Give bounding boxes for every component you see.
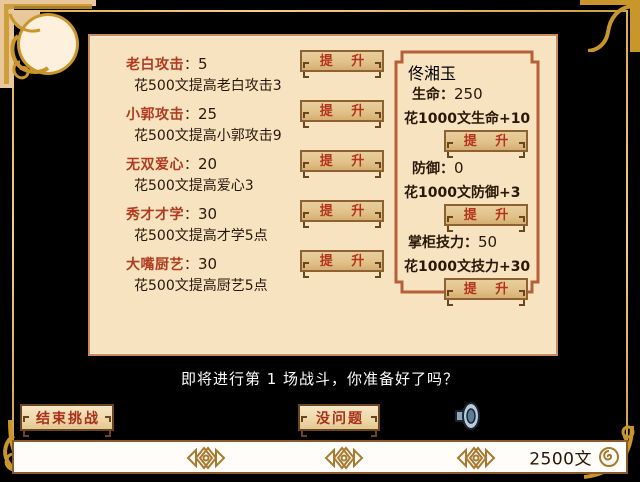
team-stat-list: 老白攻击：5 花500文提高老白攻击3 提 升 小郭攻击：25 花500文提高小…	[108, 50, 383, 300]
button-corner-icon	[105, 407, 111, 413]
confirm-battle-button[interactable]: 没问题	[298, 404, 380, 431]
button-corner-icon	[303, 263, 309, 269]
stat-row: 无双爱心：20 花500文提高爱心3 提 升	[108, 150, 383, 200]
character-stat-separator: ：	[440, 87, 454, 103]
button-corner-icon	[375, 153, 381, 159]
button-corner-icon	[301, 422, 307, 428]
button-corner-icon	[375, 163, 381, 169]
button-corner-icon	[519, 207, 525, 213]
button-corner-icon	[303, 63, 309, 69]
diamond-ornament-icon	[182, 445, 230, 471]
upgrade-button-label: 提 升	[457, 135, 516, 148]
stat-separator: ：	[184, 207, 198, 223]
stat-row: 小郭攻击：25 花500文提高小郭攻击9 提 升	[108, 100, 383, 150]
button-corner-icon	[301, 407, 307, 413]
button-corner-icon	[519, 281, 525, 287]
diamond-ornament-icon	[452, 445, 500, 471]
speaker-icon[interactable]	[452, 400, 486, 432]
stat-name: 无双爱心	[126, 157, 184, 173]
stat-name: 老白攻击	[126, 57, 184, 73]
upgrade-defense-button[interactable]: 提 升	[444, 204, 528, 226]
button-corner-icon	[447, 207, 453, 213]
end-challenge-button[interactable]: 结束挑战	[20, 404, 114, 431]
button-corner-icon	[375, 213, 381, 219]
character-stat-separator: ：	[464, 235, 478, 251]
upgrade-button-label: 提 升	[313, 205, 372, 218]
character-stat-label: 防御	[412, 161, 440, 177]
button-corner-icon	[303, 163, 309, 169]
button-corner-icon	[375, 253, 381, 259]
stat-separator: ：	[184, 257, 198, 273]
stat-row: 大嘴厨艺：30 花500文提高厨艺5点 提 升	[108, 250, 383, 300]
frame-top-rule	[12, 10, 628, 12]
stat-description: 花500文提高才学5点	[134, 225, 268, 245]
end-challenge-label: 结束挑战	[34, 408, 100, 428]
character-stat-value: 0	[454, 159, 464, 177]
button-corner-icon	[375, 263, 381, 269]
stat-line: 小郭攻击：25	[126, 104, 217, 124]
button-corner-icon	[375, 53, 381, 59]
corner-ornament-top-right-icon	[580, 0, 640, 52]
stat-value: 25	[198, 105, 217, 123]
character-stat-line: 生命：250	[412, 84, 483, 104]
button-corner-icon	[519, 217, 525, 223]
button-corner-icon	[375, 63, 381, 69]
character-stat-description: 花1000文技力+30	[404, 256, 530, 276]
button-corner-icon	[303, 203, 309, 209]
stat-value: 30	[198, 255, 217, 273]
character-stat-description: 花1000文生命+10	[404, 108, 530, 128]
character-stat-value: 50	[478, 233, 497, 251]
upgrade-wushuang-love-button[interactable]: 提 升	[300, 150, 384, 172]
button-corner-icon	[447, 281, 453, 287]
upgrade-dazui-cooking-button[interactable]: 提 升	[300, 250, 384, 272]
status-bar: 2500文	[12, 440, 628, 474]
volume-control[interactable]	[452, 398, 592, 434]
frame-right-rule	[626, 10, 628, 472]
stat-row: 老白攻击：5 花500文提高老白攻击3 提 升	[108, 50, 383, 100]
game-window: 老白攻击：5 花500文提高老白攻击3 提 升 小郭攻击：25 花500文提高小…	[0, 0, 640, 482]
button-corner-icon	[23, 422, 29, 428]
money-amount: 2500文	[529, 445, 592, 470]
button-corner-icon	[375, 103, 381, 109]
stat-name: 大嘴厨艺	[126, 257, 184, 273]
corner-ornament-top-left-icon	[0, 0, 96, 88]
stat-value: 20	[198, 155, 217, 173]
character-stat-description: 花1000文防御+3	[404, 182, 520, 202]
character-stat-value: 250	[454, 85, 483, 103]
button-corner-icon	[303, 213, 309, 219]
button-corner-icon	[303, 53, 309, 59]
upgrade-button-label: 提 升	[457, 209, 516, 222]
stat-name: 秀才才学	[126, 207, 184, 223]
button-corner-icon	[447, 291, 453, 297]
stat-value: 30	[198, 205, 217, 223]
upgrade-xiucai-talent-button[interactable]: 提 升	[300, 200, 384, 222]
character-stat-line: 掌柜技力：50	[408, 232, 497, 252]
button-corner-icon	[23, 407, 29, 413]
character-stat-separator: ：	[440, 161, 454, 177]
button-corner-icon	[375, 113, 381, 119]
button-corner-icon	[303, 103, 309, 109]
button-corner-icon	[105, 422, 111, 428]
upgrade-panel: 老白攻击：5 花500文提高老白攻击3 提 升 小郭攻击：25 花500文提高小…	[88, 34, 558, 356]
button-corner-icon	[375, 203, 381, 209]
button-corner-icon	[447, 143, 453, 149]
battle-prompt-text: 即将进行第 1 场战斗，你准备好了吗？	[0, 368, 640, 389]
character-stat-line: 防御：0	[412, 158, 464, 178]
diamond-ornament-icon	[320, 445, 368, 471]
upgrade-health-button[interactable]: 提 升	[444, 130, 528, 152]
button-corner-icon	[371, 407, 377, 413]
stat-separator: ：	[184, 57, 198, 73]
button-corner-icon	[519, 143, 525, 149]
button-corner-icon	[303, 113, 309, 119]
button-corner-icon	[371, 422, 377, 428]
upgrade-button-label: 提 升	[313, 55, 372, 68]
character-stat-label: 掌柜技力	[408, 235, 464, 251]
stat-description: 花500文提高小郭攻击9	[134, 125, 282, 145]
character-stat-label: 生命	[412, 87, 440, 103]
button-corner-icon	[519, 291, 525, 297]
character-name: 佟湘玉	[408, 60, 456, 84]
stat-description: 花500文提高爱心3	[134, 175, 254, 195]
upgrade-skill-power-button[interactable]: 提 升	[444, 278, 528, 300]
stat-name: 小郭攻击	[126, 107, 184, 123]
button-corner-icon	[303, 153, 309, 159]
upgrade-button-label: 提 升	[313, 105, 372, 118]
upgrade-xiaoguo-attack-button[interactable]: 提 升	[300, 100, 384, 122]
coin-icon	[598, 446, 620, 468]
button-corner-icon	[447, 217, 453, 223]
stat-separator: ：	[184, 157, 198, 173]
stat-line: 老白攻击：5	[126, 54, 208, 74]
button-corner-icon	[447, 133, 453, 139]
confirm-label: 没问题	[314, 408, 364, 428]
stat-description: 花500文提高厨艺5点	[134, 275, 268, 295]
stat-row: 秀才才学：30 花500文提高才学5点 提 升	[108, 200, 383, 250]
stat-separator: ：	[184, 107, 198, 123]
stat-value: 5	[198, 55, 208, 73]
upgrade-button-label: 提 升	[313, 155, 372, 168]
button-corner-icon	[303, 253, 309, 259]
stat-description: 花500文提高老白攻击3	[134, 75, 282, 95]
stat-line: 秀才才学：30	[126, 204, 217, 224]
upgrade-laobai-attack-button[interactable]: 提 升	[300, 50, 384, 72]
button-corner-icon	[519, 133, 525, 139]
upgrade-button-label: 提 升	[457, 283, 516, 296]
upgrade-button-label: 提 升	[313, 255, 372, 268]
stat-line: 无双爱心：20	[126, 154, 217, 174]
character-panel: 佟湘玉 生命：250 花1000文生命+10 提 升 防御：0 花1000文防御…	[392, 48, 542, 296]
stat-line: 大嘴厨艺：30	[126, 254, 217, 274]
